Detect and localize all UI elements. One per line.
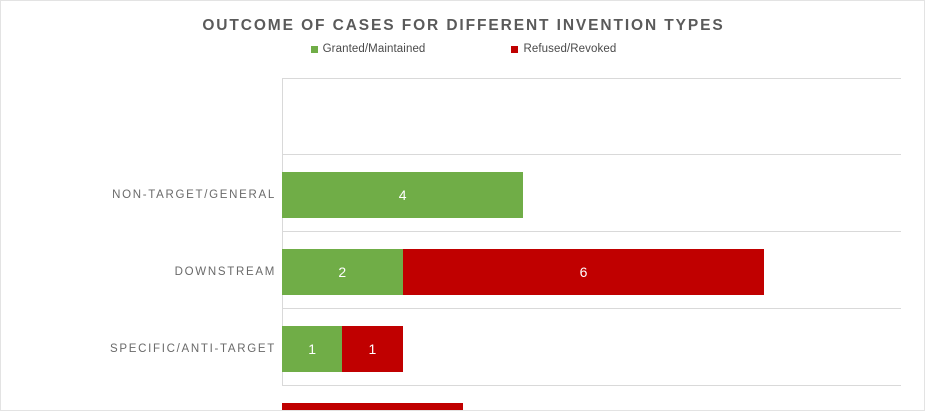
category-label-downstream: DOWNSTREAM [6, 266, 276, 278]
legend-swatch-red-icon [511, 46, 518, 53]
plot-area: 426113 [282, 78, 901, 385]
gridline-1 [282, 154, 901, 155]
category-label-specific-anti-target: SPECIFIC/ANTI-TARGET [6, 343, 276, 355]
chart-container: OUTCOME OF CASES FOR DIFFERENT INVENTION… [0, 0, 925, 411]
category-label-non-target-general: NON-TARGET/GENERAL [6, 189, 276, 201]
legend-label-refused-revoked: Refused/Revoked [523, 43, 616, 55]
bar-value-label: 4 [399, 188, 407, 202]
bar-segment-refused[interactable]: 1 [342, 326, 402, 372]
legend-item-granted-maintained[interactable]: Granted/Maintained [311, 43, 426, 55]
bar-row[interactable]: 4 [282, 172, 523, 218]
bar-value-label: 1 [369, 342, 377, 356]
bar-segment-refused[interactable]: 6 [403, 249, 765, 295]
bar-row[interactable]: 3 [282, 403, 463, 411]
bar-segment-granted[interactable]: 1 [282, 326, 342, 372]
gridline-2 [282, 231, 901, 232]
bar-row[interactable]: 11 [282, 326, 403, 372]
bar-row[interactable]: 26 [282, 249, 764, 295]
bar-segment-granted[interactable]: 4 [282, 172, 523, 218]
chart-legend: Granted/Maintained Refused/Revoked [1, 43, 925, 55]
legend-swatch-green-icon [311, 46, 318, 53]
legend-label-granted-maintained: Granted/Maintained [323, 43, 426, 55]
bar-value-label: 6 [580, 265, 588, 279]
bar-segment-granted[interactable]: 2 [282, 249, 403, 295]
bar-value-label: 2 [338, 265, 346, 279]
category-axis: NON-TARGET/GENERAL DOWNSTREAM SPECIFIC/A… [1, 78, 276, 385]
chart-title: OUTCOME OF CASES FOR DIFFERENT INVENTION… [1, 17, 925, 35]
gridline-0 [282, 78, 901, 79]
gridline-3 [282, 308, 901, 309]
bar-segment-refused[interactable]: 3 [282, 403, 463, 411]
gridline-4 [282, 385, 901, 386]
bar-value-label: 1 [308, 342, 316, 356]
legend-item-refused-revoked[interactable]: Refused/Revoked [511, 43, 616, 55]
